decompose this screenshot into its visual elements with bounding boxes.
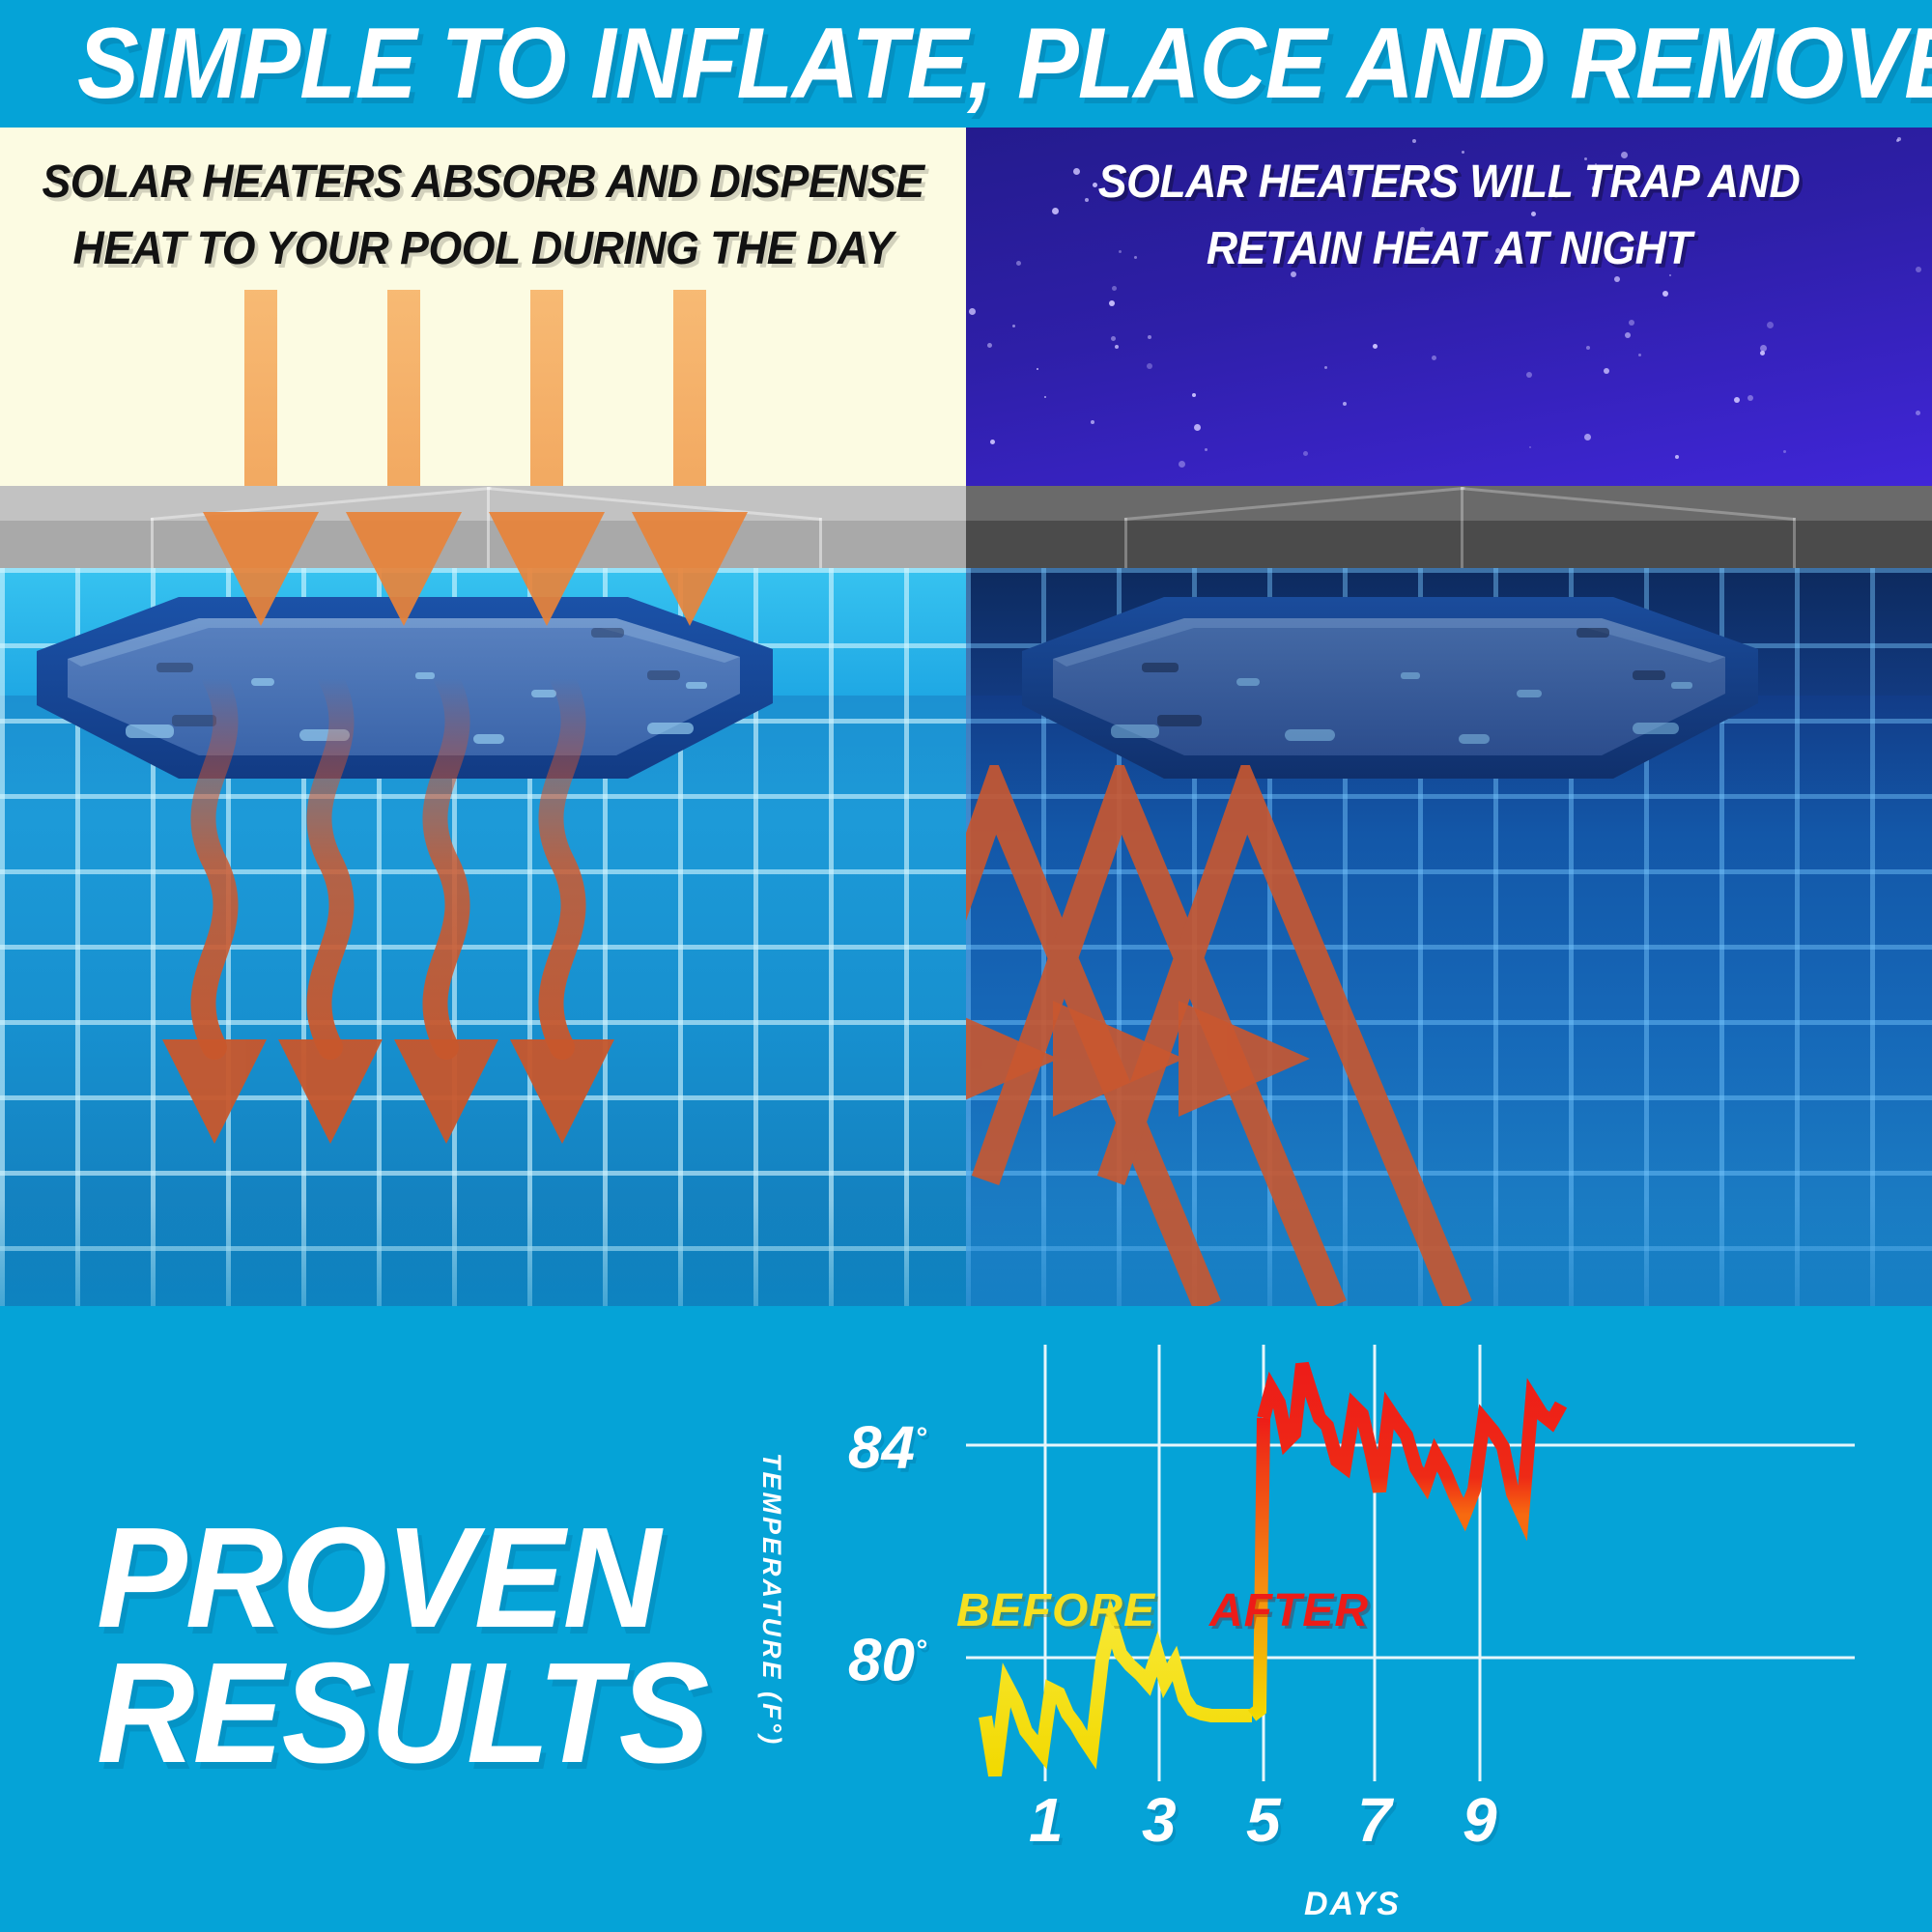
- star-icon: [1303, 451, 1308, 456]
- star-icon: [1586, 346, 1590, 350]
- series-transition-jump: [1252, 1418, 1264, 1716]
- deck-seam: [819, 518, 822, 568]
- proven-line-2: RESULTS: [97, 1646, 757, 1781]
- proven-results-section: PROVEN RESULTS TEMPERATURE (F°) 84° 80°: [0, 1306, 1932, 1932]
- star-icon: [1373, 344, 1378, 349]
- wavy-arrow-4: [551, 678, 573, 1047]
- star-icon: [1675, 455, 1679, 459]
- night-panel: SOLAR HEATERS WILL TRAP AND RETAIN HEAT …: [966, 128, 1932, 1306]
- x-tick-5: 5: [1246, 1789, 1281, 1851]
- chart-x-axis-label: DAYS: [802, 1886, 1903, 1923]
- star-icon: [987, 343, 992, 348]
- star-icon: [1192, 393, 1196, 397]
- star-icon: [1205, 448, 1207, 451]
- wavy-arrow-head-1: [162, 1039, 267, 1144]
- deck-seam: [1124, 518, 1127, 568]
- star-icon: [1148, 335, 1151, 339]
- star-icon: [969, 308, 976, 315]
- day-heat-wavy-arrows: [0, 649, 966, 1267]
- day-panel-heading: SOLAR HEATERS ABSORB AND DISPENSE HEAT T…: [34, 149, 932, 282]
- day-heading-line-2: HEAT TO YOUR POOL DURING THE DAY: [34, 215, 932, 282]
- wavy-arrow-2: [319, 678, 341, 1047]
- star-icon: [1662, 291, 1668, 297]
- series-before-line: [985, 1623, 1252, 1776]
- star-icon: [1584, 434, 1591, 440]
- star-icon: [1037, 368, 1038, 370]
- x-tick-7: 7: [1357, 1789, 1392, 1851]
- star-icon: [1625, 332, 1631, 338]
- star-icon: [1324, 366, 1327, 369]
- wavy-arrow-head-4: [510, 1039, 614, 1144]
- star-icon: [1147, 363, 1152, 369]
- x-tick-9: 9: [1463, 1789, 1497, 1851]
- star-icon: [1432, 355, 1436, 360]
- day-heading-line-1: SOLAR HEATERS ABSORB AND DISPENSE: [34, 149, 932, 215]
- star-icon: [1747, 395, 1753, 401]
- day-panel: SOLAR HEATERS ABSORB AND DISPENSE HEAT T…: [0, 128, 966, 1306]
- wavy-arrow-head-2: [278, 1039, 383, 1144]
- star-icon: [1012, 325, 1015, 327]
- star-icon: [1179, 461, 1185, 468]
- star-icon: [1916, 411, 1920, 415]
- star-icon: [1412, 139, 1416, 143]
- night-trapped-heat-arrows: [966, 765, 1932, 1306]
- deck-seam: [1793, 518, 1796, 568]
- star-icon: [1111, 336, 1116, 341]
- star-icon: [1916, 267, 1921, 272]
- night-panel-heading: SOLAR HEATERS WILL TRAP AND RETAIN HEAT …: [1000, 149, 1898, 282]
- star-icon: [1109, 300, 1115, 306]
- star-icon: [1604, 368, 1609, 374]
- star-icon: [1091, 420, 1094, 424]
- x-tick-3: 3: [1142, 1789, 1177, 1851]
- star-icon: [1760, 345, 1767, 352]
- star-icon: [1194, 424, 1201, 431]
- deck-seam: [1461, 487, 1463, 568]
- sun-arrow-head-3: [489, 512, 605, 626]
- sun-arrow-head-2: [346, 512, 462, 626]
- star-icon: [1767, 322, 1774, 328]
- header-banner: SIMPLE TO INFLATE, PLACE AND REMOVE: [0, 0, 1932, 128]
- chart-y-axis-label: TEMPERATURE (F°): [756, 1453, 786, 1747]
- page-title: SIMPLE TO INFLATE, PLACE AND REMOVE: [77, 6, 1855, 122]
- sun-arrow-head-1: [203, 512, 319, 626]
- star-icon: [1115, 345, 1119, 349]
- star-icon: [1734, 397, 1740, 403]
- temperature-chart: TEMPERATURE (F°) 84° 80°: [802, 1325, 1903, 1924]
- star-icon: [1783, 450, 1786, 453]
- star-icon: [1526, 372, 1532, 378]
- x-tick-1: 1: [1029, 1789, 1064, 1851]
- proven-results-heading: PROVEN RESULTS: [97, 1511, 792, 1781]
- star-icon: [1529, 446, 1531, 448]
- wavy-arrow-3: [435, 678, 457, 1047]
- proven-line-1: PROVEN: [97, 1511, 757, 1646]
- series-after-line: [1264, 1364, 1561, 1515]
- night-heading-line-2: RETAIN HEAT AT NIGHT: [1000, 215, 1898, 282]
- star-icon: [1343, 402, 1347, 406]
- star-icon: [1897, 137, 1901, 141]
- star-icon: [1629, 320, 1634, 326]
- wavy-arrow-head-3: [394, 1039, 498, 1144]
- star-icon: [1044, 396, 1046, 398]
- night-deck-lower: [966, 521, 1932, 568]
- wavy-arrow-1: [203, 678, 225, 1047]
- day-deck-upper: [0, 486, 966, 521]
- night-heading-line-1: SOLAR HEATERS WILL TRAP AND: [1000, 149, 1898, 215]
- infographic-page: SIMPLE TO INFLATE, PLACE AND REMOVE SOLA…: [0, 0, 1932, 1932]
- star-icon: [990, 440, 995, 444]
- sun-arrow-head-4: [632, 512, 748, 626]
- series-label-after: AFTER: [1209, 1584, 1369, 1637]
- star-icon: [1112, 286, 1117, 291]
- series-label-before: BEFORE: [956, 1584, 1155, 1637]
- deck-seam: [151, 518, 154, 568]
- star-icon: [1638, 354, 1641, 356]
